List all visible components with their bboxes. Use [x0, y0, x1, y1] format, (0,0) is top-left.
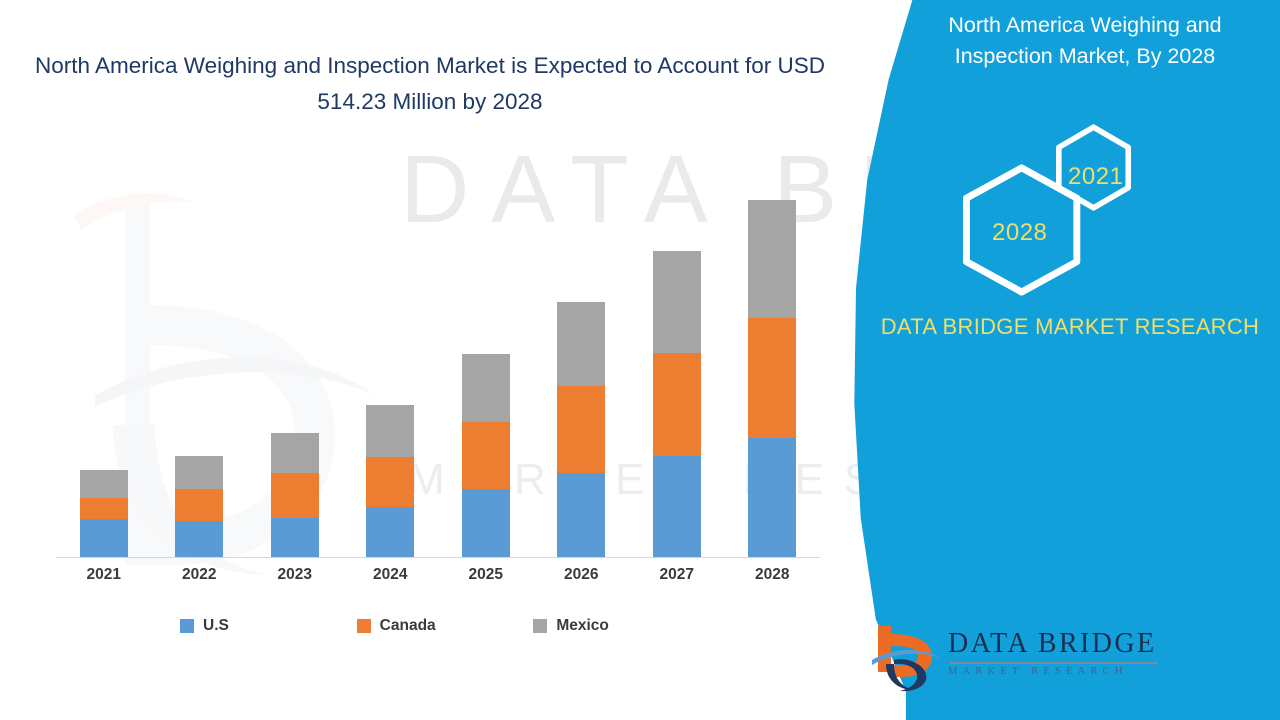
hexagon-outline-icons — [850, 0, 1280, 720]
bar-segment-mexico — [653, 251, 701, 353]
logo-divider — [950, 662, 1158, 664]
x-axis-tick-label: 2023 — [247, 566, 343, 584]
bar-segment-canada — [462, 422, 510, 489]
stacked-bar[interactable] — [271, 433, 319, 557]
bar-segment-us — [748, 438, 796, 557]
bar-segment-us — [80, 519, 128, 557]
bar-group — [534, 150, 630, 557]
stacked-bar[interactable] — [80, 470, 128, 557]
bar-segment-canada — [748, 318, 796, 438]
bar-segment-canada — [271, 473, 319, 518]
brand-logo: DATA BRIDGE MARKET RESEARCH — [860, 618, 1280, 698]
x-axis-line — [56, 557, 820, 558]
stacked-bar[interactable] — [557, 302, 605, 557]
chart-title: North America Weighing and Inspection Ma… — [35, 48, 825, 120]
x-axis-tick-label: 2021 — [56, 566, 152, 584]
stacked-bar[interactable] — [653, 251, 701, 557]
logo-tagline: MARKET RESEARCH — [948, 667, 1168, 678]
chart-legend: U.SCanadaMexico — [180, 617, 710, 635]
x-axis-tick-label: 2025 — [438, 566, 534, 584]
x-axis-tick-label: 2027 — [629, 566, 725, 584]
bar-segment-us — [175, 521, 223, 557]
bar-segment-us — [462, 489, 510, 557]
stacked-bar[interactable] — [366, 405, 414, 557]
hex-badge-label-2021: 2021 — [1068, 163, 1123, 191]
bar-segment-canada — [175, 489, 223, 521]
bar-group — [725, 150, 821, 557]
bar-segment-canada — [366, 457, 414, 507]
x-axis-labels: 20212022202320242025202620272028 — [56, 566, 820, 584]
panel-brand-subtitle: DATA BRIDGE MARKET RESEARCH — [880, 310, 1260, 344]
stacked-bar[interactable] — [175, 456, 223, 557]
hexagon-badges: 2028 2021 — [850, 0, 1280, 720]
bar-group — [438, 150, 534, 557]
legend-swatch-icon — [357, 619, 371, 633]
legend-swatch-icon — [180, 619, 194, 633]
bar-segment-mexico — [366, 405, 414, 457]
logo-main-text: DATA BRIDGE — [948, 630, 1168, 658]
legend-label: Mexico — [556, 617, 609, 635]
bar-segment-us — [653, 456, 701, 557]
bar-group — [56, 150, 152, 557]
x-axis-tick-label: 2028 — [725, 566, 821, 584]
chart-plot-area — [56, 150, 820, 558]
bar-segment-mexico — [271, 433, 319, 473]
bar-segment-mexico — [462, 354, 510, 422]
bar-group — [629, 150, 725, 557]
bar-segment-canada — [557, 386, 605, 473]
bar-group — [152, 150, 248, 557]
stacked-bar[interactable] — [748, 200, 796, 557]
bar-segment-mexico — [748, 200, 796, 318]
bar-segment-mexico — [80, 470, 128, 498]
x-axis-tick-label: 2026 — [534, 566, 630, 584]
legend-item[interactable]: U.S — [180, 617, 357, 635]
legend-item[interactable]: Canada — [357, 617, 534, 635]
right-side-panel-content: North America Weighing and Inspection Ma… — [850, 0, 1280, 720]
stacked-bar[interactable] — [462, 354, 510, 557]
legend-swatch-icon — [533, 619, 547, 633]
bar-group — [343, 150, 439, 557]
bar-group — [247, 150, 343, 557]
data-bridge-logo-icon — [870, 620, 944, 696]
x-axis-tick-label: 2024 — [343, 566, 439, 584]
bar-segment-us — [271, 518, 319, 557]
bar-series-container — [56, 150, 820, 557]
legend-item[interactable]: Mexico — [533, 617, 710, 635]
legend-label: Canada — [380, 617, 436, 635]
x-axis-tick-label: 2022 — [152, 566, 248, 584]
bar-segment-canada — [653, 353, 701, 456]
hex-badge-label-2028: 2028 — [992, 219, 1047, 247]
bar-segment-us — [366, 507, 414, 557]
bar-segment-canada — [80, 498, 128, 519]
legend-label: U.S — [203, 617, 229, 635]
bar-segment-mexico — [557, 302, 605, 386]
bar-segment-us — [557, 473, 605, 557]
logo-text-block: DATA BRIDGE MARKET RESEARCH — [948, 630, 1168, 678]
bar-segment-mexico — [175, 456, 223, 489]
